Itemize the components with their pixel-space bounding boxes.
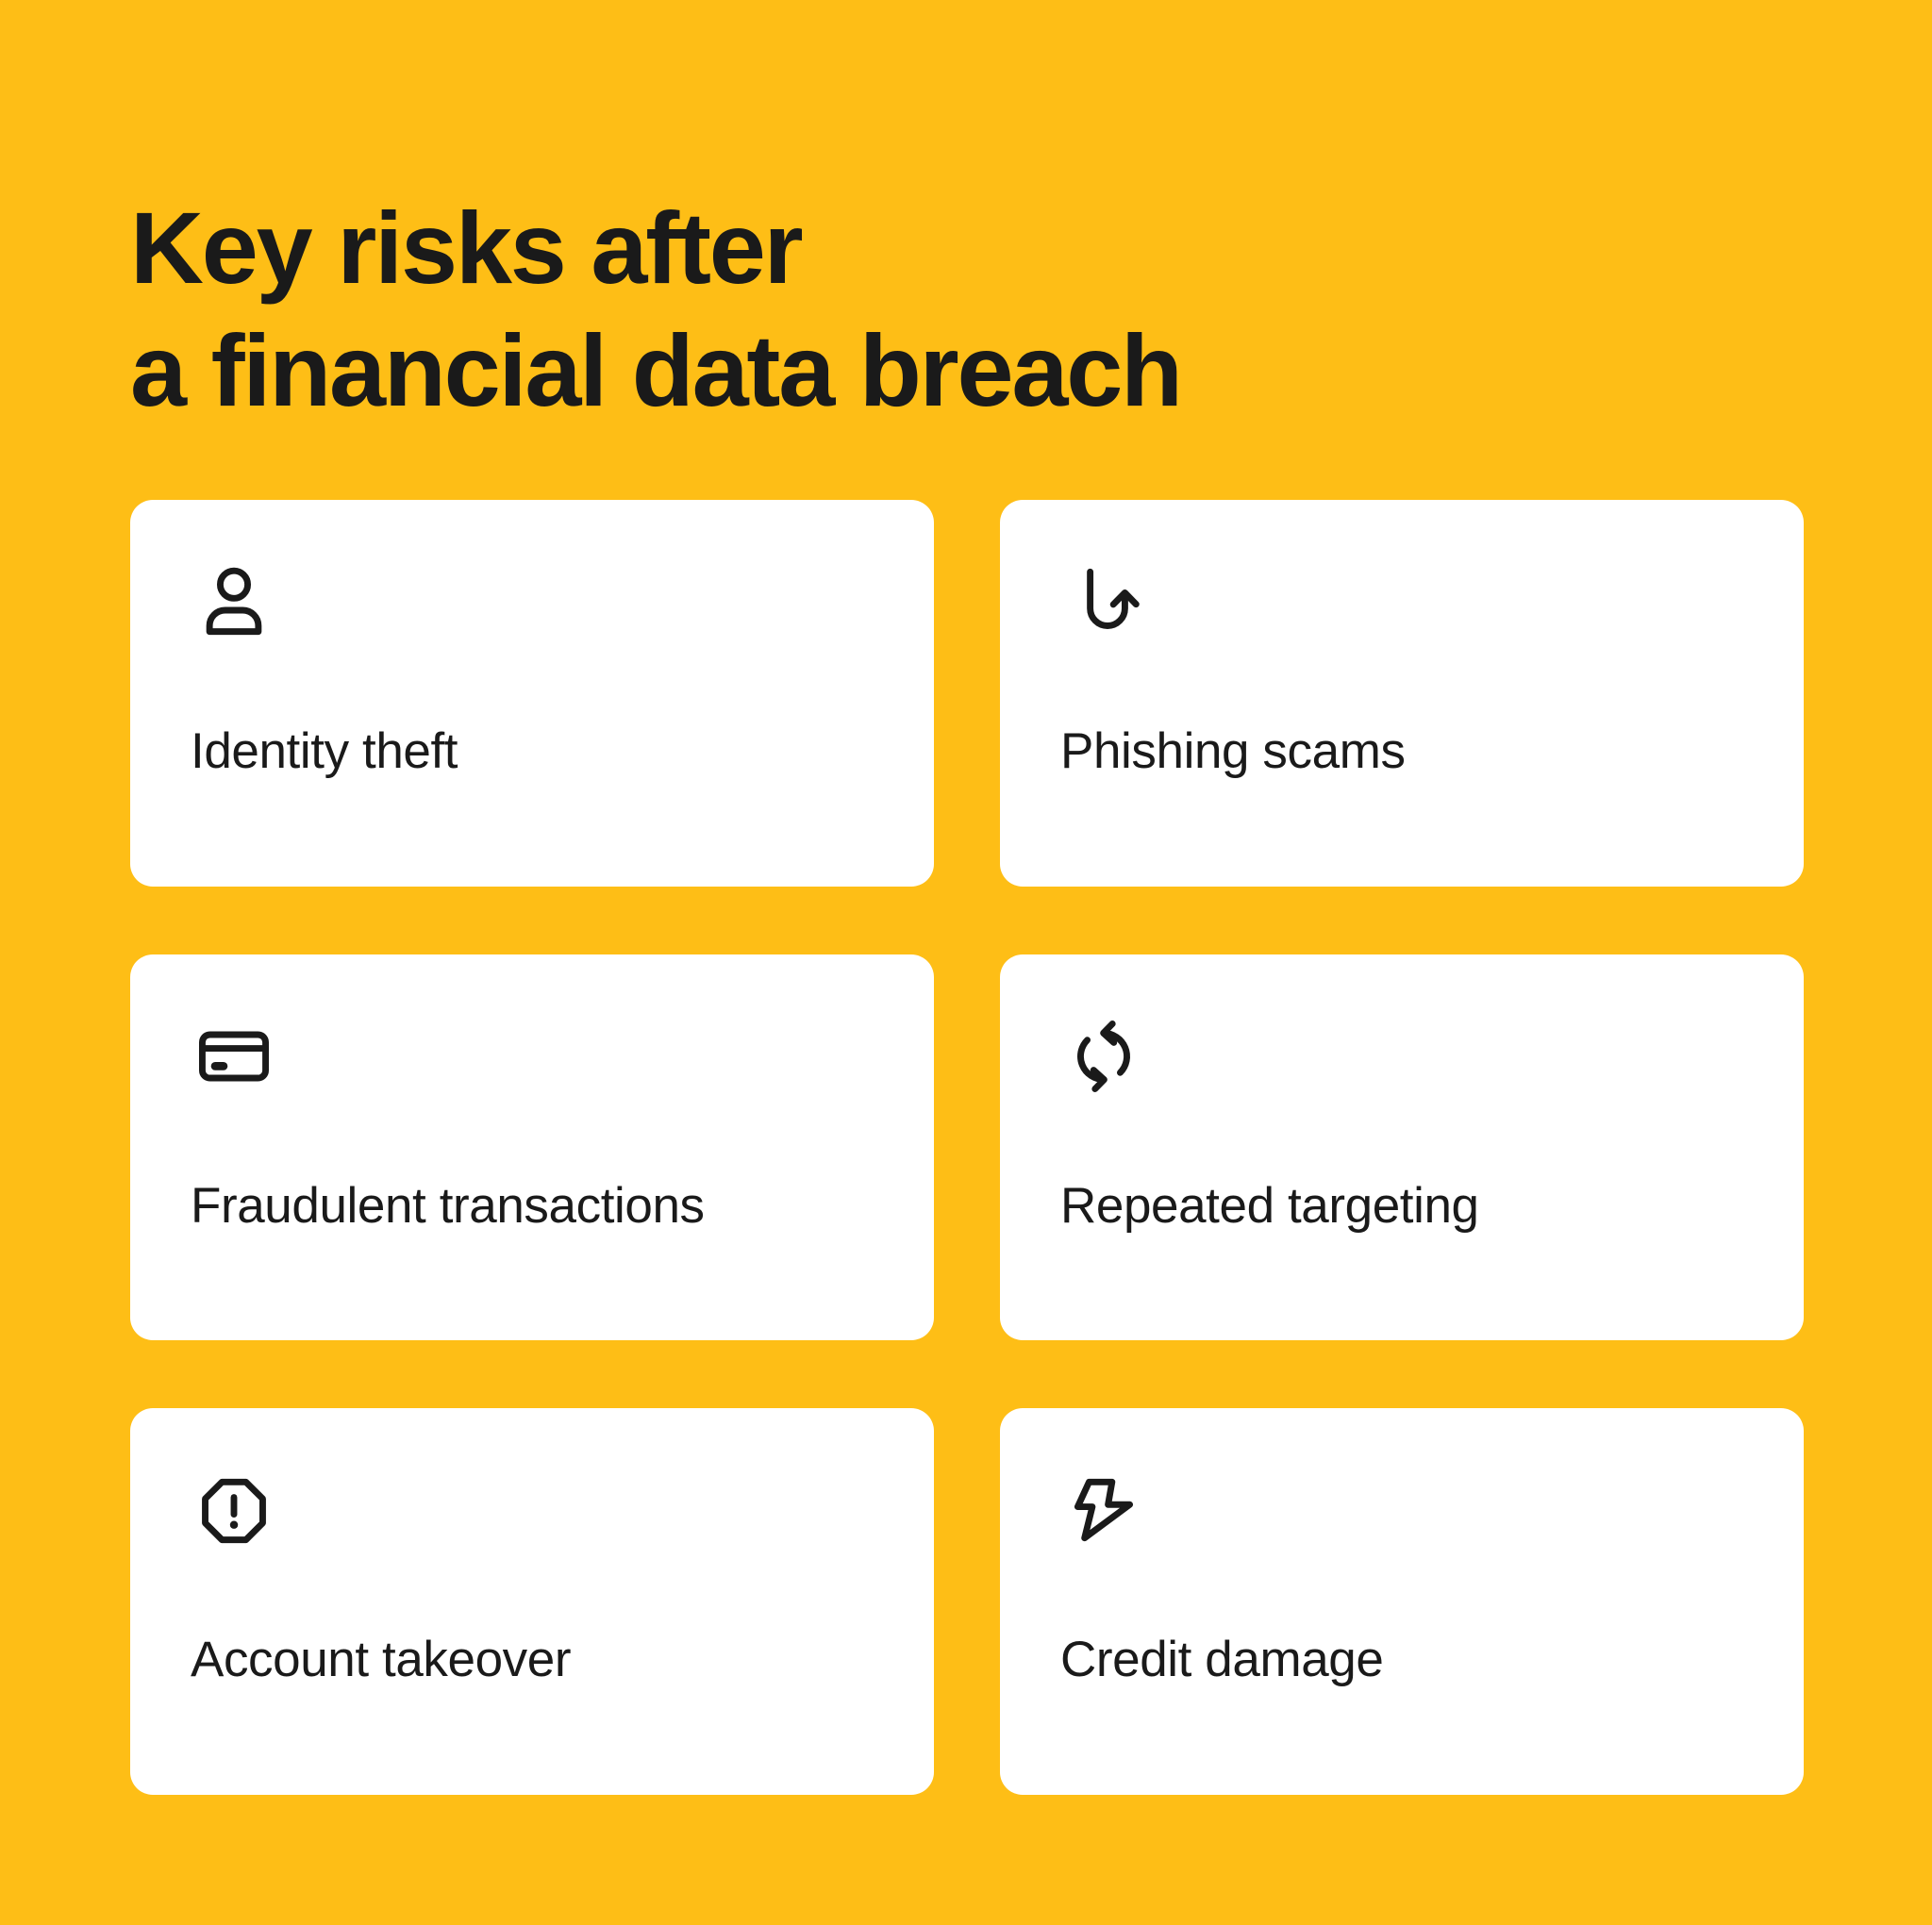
risk-card-label: Credit damage <box>1060 1633 1766 1687</box>
refresh-cycle-icon <box>1060 1013 1743 1100</box>
risk-card-label: Identity theft <box>191 724 896 779</box>
lightning-bolt-icon <box>1060 1467 1743 1553</box>
credit-card-icon <box>191 1013 874 1100</box>
risk-card-repeated-targeting[interactable]: Repeated targeting <box>1000 954 1804 1341</box>
risk-card-label: Phishing scams <box>1060 724 1766 779</box>
risk-card-identity-theft[interactable]: Identity theft <box>130 500 934 887</box>
risk-card-account-takeover[interactable]: Account takeover <box>130 1408 934 1795</box>
risk-card-grid: Identity theft Phishing scams Fraudul <box>130 500 1804 1795</box>
octagon-alert-icon <box>191 1467 874 1553</box>
person-icon <box>191 558 874 645</box>
risk-card-phishing-scams[interactable]: Phishing scams <box>1000 500 1804 887</box>
fish-hook-arrow-icon <box>1060 558 1743 645</box>
risk-card-label: Repeated targeting <box>1060 1179 1766 1234</box>
risk-card-credit-damage[interactable]: Credit damage <box>1000 1408 1804 1795</box>
page-title: Key risks after a financial data breach <box>130 187 1734 431</box>
risk-card-fraudulent-transactions[interactable]: Fraudulent transactions <box>130 954 934 1341</box>
poster-canvas: Key risks after a financial data breach … <box>0 0 1932 1925</box>
risk-card-label: Fraudulent transactions <box>191 1179 896 1234</box>
risk-card-label: Account takeover <box>191 1633 896 1687</box>
